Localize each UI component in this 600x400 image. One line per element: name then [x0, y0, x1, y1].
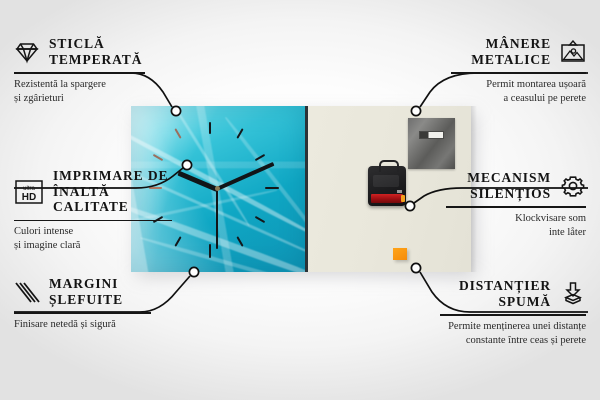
- callout-sub-line1: Finisare netedă și sigură: [14, 319, 116, 330]
- picture-frame-icon: [560, 40, 586, 64]
- hatch-lines-icon: [14, 280, 40, 304]
- metal-hanger-plate: [408, 118, 455, 169]
- callout-title-line1: MARGINI: [49, 276, 118, 291]
- callout-sub-line1: Rezistentă la spargere: [14, 79, 106, 90]
- callout-imprimare-hd: ultra HD IMPRIMARE DE ÎNALTĂ CALITATE Cu…: [14, 168, 174, 253]
- callout-sub-line2: și imagine clară: [14, 240, 80, 251]
- callout-title-line2: ÎNALTĂ CALITATE: [53, 184, 129, 215]
- callout-title-line2: ȘLEFUITE: [49, 292, 123, 307]
- callout-sub-line2: și zgârieturi: [14, 93, 64, 104]
- callout-title-line1: MECANISM: [467, 170, 551, 185]
- infographic-canvas: STICLĂ TEMPERATĂ Rezistentă la spargere …: [0, 0, 600, 400]
- callout-title-line1: IMPRIMARE DE: [53, 168, 168, 183]
- callout-title-line2: METALICE: [471, 52, 551, 67]
- callout-title-line2: SILENȚIOS: [470, 186, 551, 201]
- press-down-pad-icon: [560, 282, 586, 306]
- callout-sub-line2: inte låter: [549, 227, 586, 238]
- foam-spacer: [393, 248, 407, 260]
- battery: [371, 194, 403, 203]
- callout-sub-line1: Permite menținerea unei distanțe: [448, 321, 586, 332]
- callout-sub-line1: Klockvisare som: [515, 213, 586, 224]
- clock-mechanism: [368, 166, 406, 206]
- second-hand: [216, 189, 218, 249]
- callout-title-line2: TEMPERATĂ: [49, 52, 142, 67]
- callout-sticla-temperata: STICLĂ TEMPERATĂ Rezistentă la spargere …: [14, 36, 149, 106]
- callout-title-line1: STICLĂ: [49, 36, 105, 51]
- callout-manere-metalice: MÂNERE METALICE Permit montarea ușoară a…: [451, 36, 586, 106]
- callout-sub-line2: a ceasului pe perete: [504, 93, 587, 104]
- product-image: [131, 106, 471, 272]
- callout-distantier-spuma: DISTANȚIER SPUMĂ Permite menținerea unei…: [440, 278, 586, 348]
- callout-margini-slefuite: MARGINI ȘLEFUITE Finisare netedă și sigu…: [14, 276, 154, 332]
- diamond-icon: [14, 40, 40, 64]
- callout-sub-line2: constante între ceas și perete: [466, 335, 586, 346]
- callout-mecanism-silentios: MECANISM SILENȚIOS Klockvisare som inte …: [446, 170, 586, 240]
- callout-title-line1: DISTANȚIER: [459, 278, 551, 293]
- callout-title-line1: MÂNERE: [486, 36, 551, 51]
- svg-text:HD: HD: [22, 192, 36, 203]
- callout-sub-line1: Permit montarea ușoară: [486, 79, 586, 90]
- callout-title-line2: SPUMĂ: [499, 294, 552, 309]
- callout-sub-line1: Culori intense: [14, 226, 73, 237]
- gear-icon: [560, 174, 586, 198]
- ultra-hd-icon: ultra HD: [14, 179, 44, 203]
- clock-hub: [215, 186, 220, 191]
